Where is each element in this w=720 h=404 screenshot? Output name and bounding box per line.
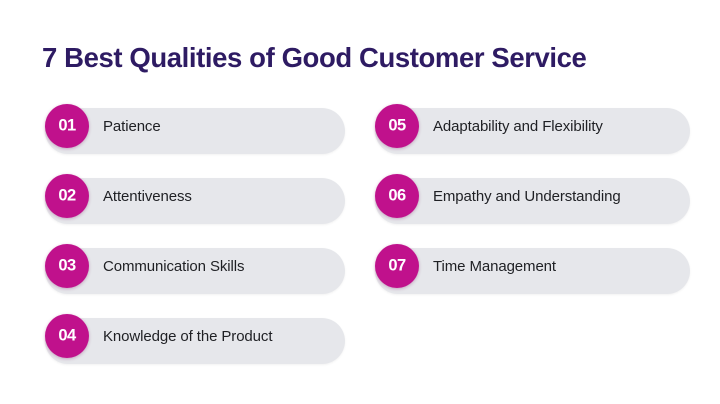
page-title: 7 Best Qualities of Good Customer Servic… [42, 38, 702, 78]
list-item-pill [45, 178, 345, 224]
list-item[interactable]: 04 Knowledge of the Product [45, 314, 345, 368]
list-item-label: Attentiveness [103, 174, 192, 218]
list-item-number-badge: 01 [45, 104, 89, 148]
list-item-number-badge: 07 [375, 244, 419, 288]
list-item-label: Knowledge of the Product [103, 314, 272, 358]
list-item-label: Patience [103, 104, 161, 148]
list-item-pill [45, 108, 345, 154]
qualities-column-left: 01 Patience 02 Attentiveness 03 Communic… [45, 104, 345, 384]
list-item-number: 01 [58, 117, 75, 134]
qualities-column-right: 05 Adaptability and Flexibility 06 Empat… [375, 104, 690, 314]
list-item-number-badge: 02 [45, 174, 89, 218]
list-item-number-badge: 03 [45, 244, 89, 288]
list-item-label: Communication Skills [103, 244, 244, 288]
list-item-number: 04 [58, 327, 75, 344]
list-item-number: 06 [388, 187, 405, 204]
list-item[interactable]: 06 Empathy and Understanding [375, 174, 690, 228]
list-item-number: 03 [58, 257, 75, 274]
list-item-number: 02 [58, 187, 75, 204]
list-item-number-badge: 05 [375, 104, 419, 148]
list-item[interactable]: 02 Attentiveness [45, 174, 345, 228]
qualities-list: 01 Patience 02 Attentiveness 03 Communic… [0, 104, 720, 374]
list-item-number-badge: 06 [375, 174, 419, 218]
list-item[interactable]: 01 Patience [45, 104, 345, 158]
list-item-label: Empathy and Understanding [433, 174, 621, 218]
list-item-label: Adaptability and Flexibility [433, 104, 603, 148]
list-item-number: 07 [388, 257, 405, 274]
list-item[interactable]: 07 Time Management [375, 244, 690, 298]
list-item-number: 05 [388, 117, 405, 134]
list-item-number-badge: 04 [45, 314, 89, 358]
infographic-canvas: 7 Best Qualities of Good Customer Servic… [0, 0, 720, 404]
list-item[interactable]: 03 Communication Skills [45, 244, 345, 298]
list-item-label: Time Management [433, 244, 556, 288]
list-item[interactable]: 05 Adaptability and Flexibility [375, 104, 690, 158]
